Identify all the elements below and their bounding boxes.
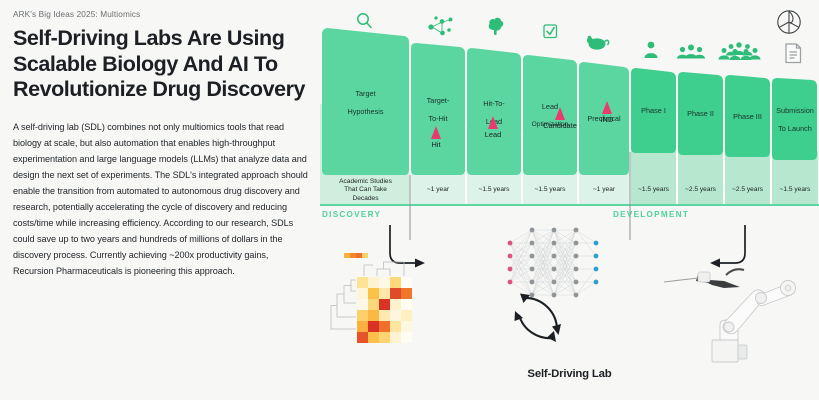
duration-submission-to-launch: ~1.5 years <box>772 176 818 205</box>
stage-icon-person <box>645 42 658 58</box>
stage-label-line: Phase III <box>733 112 762 121</box>
marker-triangle-icon <box>488 116 498 129</box>
stage-target-hypothesis[interactable]: TargetHypothesis <box>322 30 409 175</box>
stage-icon-tree <box>489 18 504 35</box>
stage-icon-document <box>786 44 801 63</box>
stage-label-line: Target- <box>427 96 450 105</box>
nn-output-nodes <box>594 241 599 285</box>
stage-phase-ii[interactable]: Phase II <box>678 73 723 155</box>
duration-target-to-hit: ~1 year <box>411 176 465 205</box>
stage-icon-mouse <box>587 36 609 50</box>
stage-phase-i[interactable]: Phase I <box>631 69 676 153</box>
stage-label-line: Phase II <box>687 109 714 118</box>
milestone-label: IND <box>592 115 622 124</box>
stage-label-line: Hypothesis <box>347 107 383 116</box>
stage-label-line: To-Hit <box>427 114 450 123</box>
neural-network-diagram <box>508 228 599 298</box>
stage-phase-iii[interactable]: Phase III <box>725 76 770 157</box>
heatmap-grid <box>357 277 412 343</box>
milestone-label: Candidate <box>538 121 582 130</box>
stage-submission-to-launch[interactable]: SubmissionTo Launch <box>772 79 818 160</box>
marker-triangle-icon <box>431 126 441 139</box>
milestone-lead: Lead <box>478 116 508 139</box>
stage-icon-checkbox <box>544 25 557 38</box>
duration-phase-ii: ~2.5 years <box>678 176 723 205</box>
stage-hit-to-lead[interactable]: Hit-To-Lead <box>467 50 521 175</box>
duration-preclinical: ~1 year <box>579 176 629 205</box>
stage-target-to-hit[interactable]: Target-To-Hit <box>411 44 465 175</box>
milestone-ind: IND <box>592 101 622 124</box>
milestone-label: Hit <box>421 140 451 149</box>
stage-label-line: Target <box>347 89 383 98</box>
duration-phase-i: ~1.5 years <box>631 176 676 205</box>
stage-icon-small-group <box>677 45 705 59</box>
arrow-development-to-lab <box>710 225 745 268</box>
arrow-discovery-to-lab <box>390 225 425 268</box>
band-label-discovery: DISCOVERY <box>322 210 381 219</box>
marker-triangle-icon <box>602 101 612 114</box>
duration-phase-iii: ~2.5 years <box>725 176 770 205</box>
stage-label-line: Submission <box>776 106 814 115</box>
clustermap-heatmap <box>331 253 412 343</box>
robotic-arm <box>664 269 796 362</box>
infographic-page: ARK's Big Ideas 2025: Multiomics Self-Dr… <box>0 0 819 400</box>
stage-icon-large-group <box>719 42 761 60</box>
kicker-label: ARK's Big Ideas 2025: Multiomics <box>13 10 313 19</box>
heatmap-colorbar <box>344 253 368 258</box>
duration-hit-to-lead: ~1.5 years <box>467 176 521 205</box>
stage-icon-molecule <box>429 17 452 35</box>
marker-triangle-icon <box>555 107 565 120</box>
stage-label-line: Hit-To- <box>483 99 504 108</box>
self-driving-lab-diagram: Self-Driving Lab <box>320 225 819 400</box>
milestone-label: Lead <box>478 130 508 139</box>
drug-development-pipeline: TargetHypothesis Target-To-Hit Hit-To-Le… <box>320 0 819 240</box>
stage-label-line: To Launch <box>776 124 814 133</box>
nn-hidden-nodes <box>530 228 579 298</box>
page-title: Self-Driving Labs Are Using Scalable Bio… <box>13 26 313 103</box>
milestone-candidate: Candidate <box>538 107 582 130</box>
band-label-development: DEVELOPMENT <box>613 210 689 219</box>
duration-lead-optimization: ~1.5 years <box>523 176 577 205</box>
cycle-arrows <box>515 294 562 343</box>
milestone-hit: Hit <box>421 126 451 149</box>
duration-target-hypothesis: Academic StudiesThat Can TakeDecades <box>322 176 409 205</box>
sdl-caption: Self-Driving Lab <box>320 368 819 380</box>
stage-label-line: Phase I <box>641 106 666 115</box>
article-text-column: ARK's Big Ideas 2025: Multiomics Self-Dr… <box>13 10 313 279</box>
stage-icon-magnifier <box>358 14 371 28</box>
body-paragraph: A self-driving lab (SDL) combines not on… <box>13 119 309 280</box>
